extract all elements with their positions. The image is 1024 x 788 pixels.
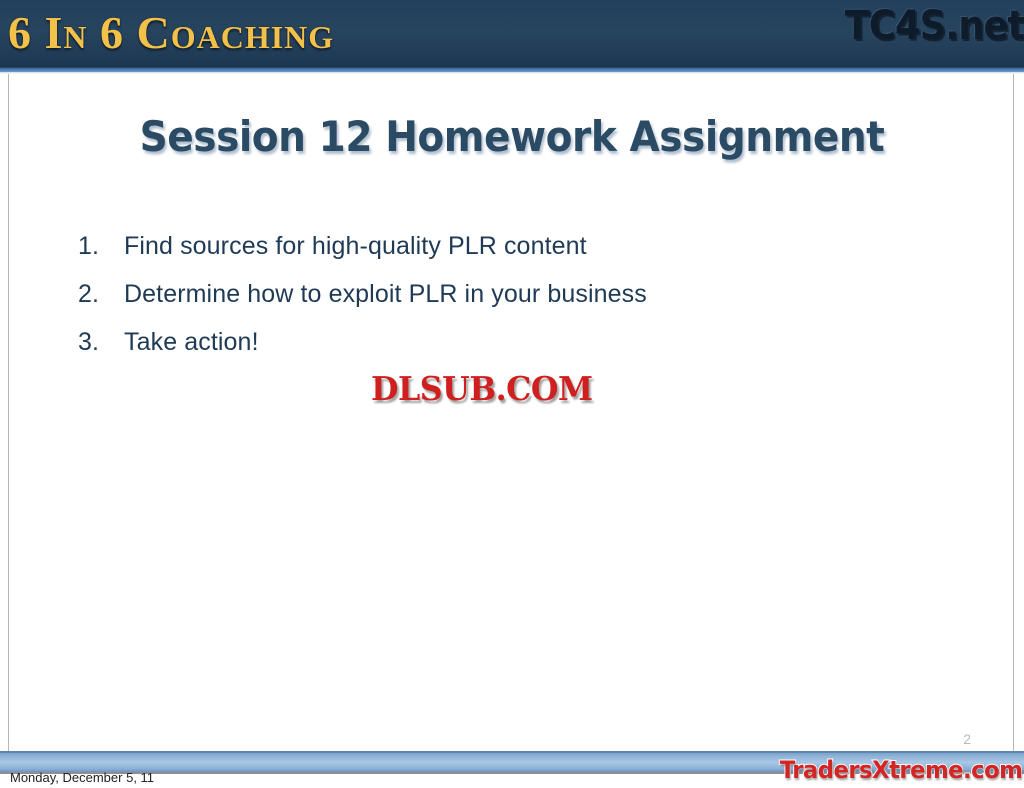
dlsub-watermark: DLSUB.COM: [371, 369, 593, 408]
slide-body-frame: [8, 74, 1014, 752]
tradersxtreme-logo: TradersXtreme.com: [779, 756, 1022, 784]
list-item-number: 3.: [78, 318, 124, 366]
page-number: 2: [963, 731, 971, 747]
list-item-number: 2.: [78, 270, 124, 318]
list-item-label: Find sources for high-quality PLR conten…: [124, 222, 587, 270]
slide-canvas: 6 In 6 Coaching TC4S.net Session 12 Home…: [0, 0, 1024, 788]
list-item-number: 1.: [78, 222, 124, 270]
list-item-label: Take action!: [124, 318, 259, 366]
header-band: 6 In 6 Coaching TC4S.net: [0, 0, 1024, 68]
list-item: 1. Find sources for high-quality PLR con…: [78, 222, 647, 270]
tc4s-logo: TC4S.net: [844, 0, 1024, 52]
footer-date: Monday, December 5, 11: [10, 770, 154, 785]
list-item: 2. Determine how to exploit PLR in your …: [78, 270, 647, 318]
brand-title: 6 In 6 Coaching: [8, 4, 334, 62]
list-item-label: Determine how to exploit PLR in your bus…: [124, 270, 647, 318]
list-item: 3. Take action!: [78, 318, 647, 366]
page-title: Session 12 Homework Assignment: [36, 112, 988, 161]
homework-list: 1. Find sources for high-quality PLR con…: [78, 222, 647, 366]
